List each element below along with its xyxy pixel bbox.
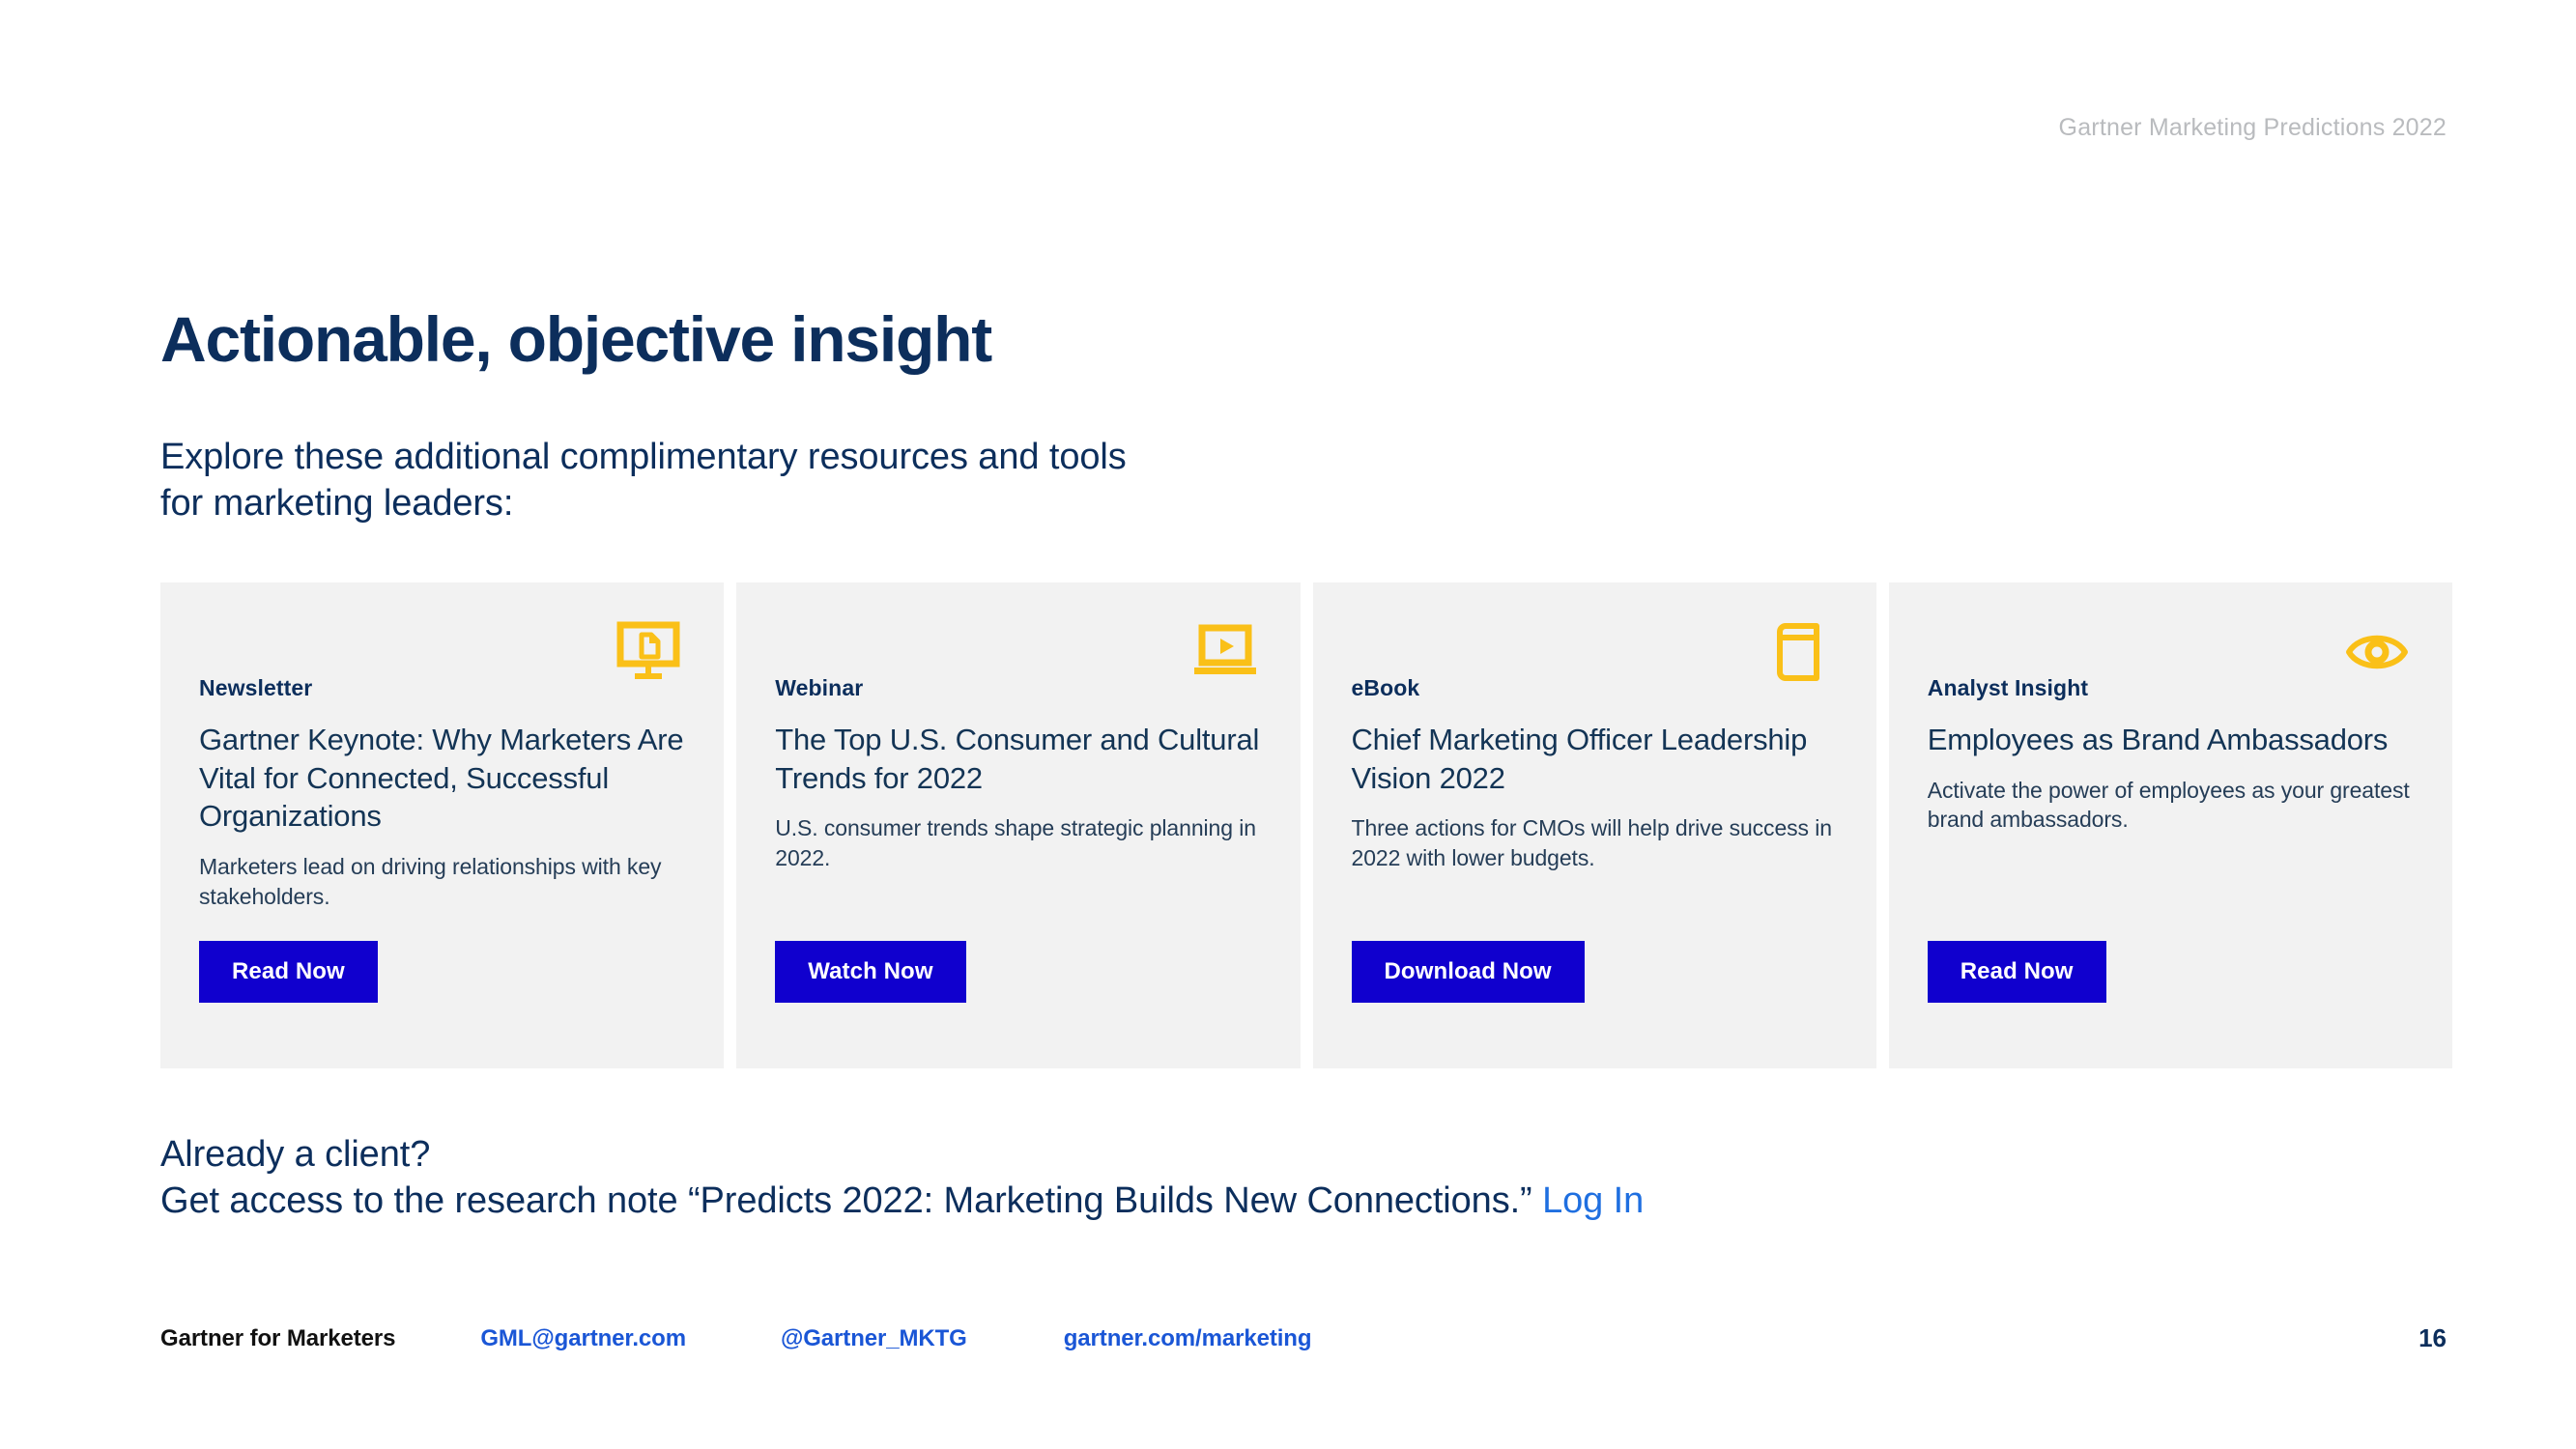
watch-now-button[interactable]: Watch Now (775, 941, 965, 1003)
resource-card-analyst-insight[interactable]: Analyst Insight Employees as Brand Ambas… (1889, 582, 2452, 1068)
page-subtitle: Explore these additional complimentary r… (160, 435, 1127, 527)
footer-brand: Gartner for Marketers (160, 1325, 395, 1352)
eye-icon (2342, 617, 2412, 687)
client-note-line-2: Get access to the research note “Predict… (160, 1179, 1644, 1225)
card-eyebrow: Webinar (775, 675, 1261, 701)
card-title: The Top U.S. Consumer and Cultural Trend… (775, 721, 1261, 797)
card-title: Employees as Brand Ambassadors (1928, 721, 2414, 759)
client-note-line-1: Already a client? (160, 1132, 1644, 1179)
laptop-play-icon (1190, 617, 1260, 687)
log-in-link[interactable]: Log In (1542, 1180, 1644, 1221)
footer-twitter-link[interactable]: @Gartner_MKTG (781, 1325, 967, 1352)
card-eyebrow: Analyst Insight (1928, 675, 2414, 701)
slide-root: Gartner Marketing Predictions 2022 Actio… (0, 0, 2576, 1449)
card-description: Activate the power of employees as your … (1928, 776, 2414, 836)
page-subtitle-line-2: for marketing leaders: (160, 481, 1127, 527)
footer: Gartner for Marketers GML@gartner.com @G… (160, 1325, 1311, 1352)
resource-card-webinar[interactable]: Webinar The Top U.S. Consumer and Cultur… (736, 582, 1300, 1068)
page-title: Actionable, objective insight (160, 307, 991, 371)
page-subtitle-line-1: Explore these additional complimentary r… (160, 435, 1127, 481)
read-now-button[interactable]: Read Now (199, 941, 378, 1003)
client-note-text: Get access to the research note “Predict… (160, 1180, 1542, 1221)
presentation-screen-icon (614, 617, 683, 687)
deck-title: Gartner Marketing Predictions 2022 (2059, 114, 2447, 142)
card-title: Gartner Keynote: Why Marketers Are Vital… (199, 721, 685, 836)
card-eyebrow: Newsletter (199, 675, 685, 701)
page-number: 16 (2419, 1323, 2447, 1353)
card-title: Chief Marketing Officer Leadership Visio… (1352, 721, 1838, 797)
book-icon (1766, 617, 1836, 687)
client-access-note: Already a client? Get access to the rese… (160, 1132, 1644, 1224)
download-now-button[interactable]: Download Now (1352, 941, 1585, 1003)
card-description: Marketers lead on driving relationships … (199, 852, 685, 912)
resource-card-ebook[interactable]: eBook Chief Marketing Officer Leadership… (1313, 582, 1876, 1068)
resource-card-row: Newsletter Gartner Keynote: Why Marketer… (160, 582, 2452, 1068)
resource-card-newsletter[interactable]: Newsletter Gartner Keynote: Why Marketer… (160, 582, 724, 1068)
read-now-button[interactable]: Read Now (1928, 941, 2106, 1003)
card-description: U.S. consumer trends shape strategic pla… (775, 813, 1261, 873)
card-eyebrow: eBook (1352, 675, 1838, 701)
footer-website-link[interactable]: gartner.com/marketing (1064, 1325, 1312, 1352)
card-description: Three actions for CMOs will help drive s… (1352, 813, 1838, 873)
footer-email-link[interactable]: GML@gartner.com (480, 1325, 686, 1352)
